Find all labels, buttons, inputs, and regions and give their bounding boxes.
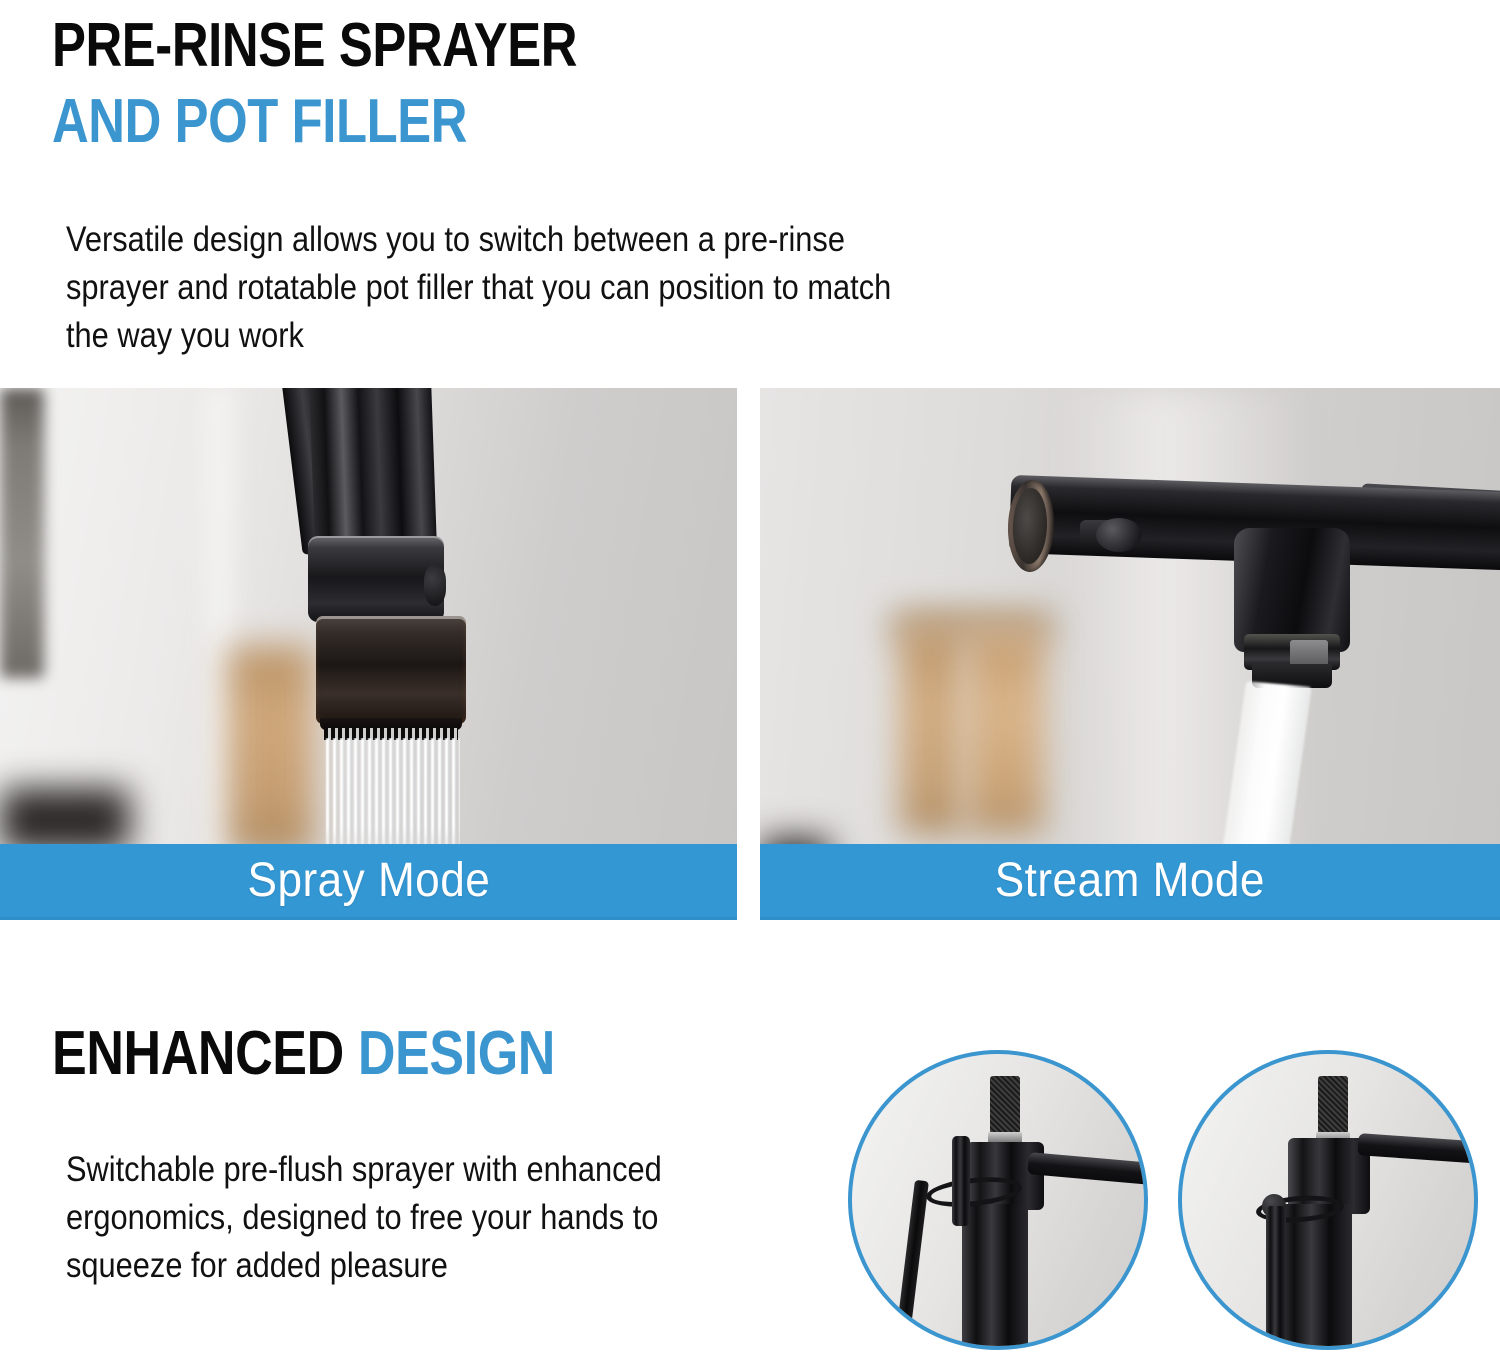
section2-heading: ENHANCED DESIGN: [52, 1018, 555, 1090]
headline-line-2: AND POT FILLER: [52, 84, 577, 160]
spray-mode-photo: [0, 388, 737, 920]
spray-mode-caption-label: Spray Mode: [247, 853, 490, 908]
squeeze-lever-handle: [893, 1180, 929, 1350]
lever-engaged-photo: [1178, 1050, 1478, 1350]
spray-mode-caption: Spray Mode: [0, 844, 737, 920]
infographic-page: PRE-RINSE SPRAYER AND POT FILLER Versati…: [0, 0, 1500, 1370]
detail-circles: [848, 1050, 1488, 1350]
stream-mode-caption: Stream Mode: [760, 844, 1500, 920]
faucet-side-arm: [1027, 1152, 1148, 1186]
intro-paragraph: Versatile design allows you to switch be…: [66, 216, 893, 360]
faucet-hose: [309, 388, 437, 552]
dark-object-blur: [0, 788, 130, 852]
headline-block: PRE-RINSE SPRAYER AND POT FILLER: [52, 8, 692, 160]
wooden-board-blur-2: [966, 628, 1044, 834]
mode-panels: Spray Mode: [0, 388, 1500, 920]
mode-toggle-button-icon: [424, 564, 446, 606]
spray-mode-panel: Spray Mode: [0, 388, 737, 920]
knurled-rod: [1318, 1076, 1348, 1134]
wooden-object-blur: [228, 646, 314, 856]
stream-mode-caption-label: Stream Mode: [995, 853, 1265, 908]
faucet-lower-tube: [962, 1204, 1028, 1350]
spout-aerator-chip: [1290, 640, 1328, 666]
stream-mode-photo: [760, 388, 1500, 920]
headline-line-1: PRE-RINSE SPRAYER: [52, 8, 577, 84]
section2-heading-blue: DESIGN: [358, 1019, 555, 1088]
lever-released-photo: [848, 1050, 1148, 1350]
wooden-board-blur-1: [900, 626, 964, 834]
section2-paragraph: Switchable pre-flush sprayer with enhanc…: [66, 1146, 682, 1290]
sprayer-head: [316, 616, 466, 724]
section2-heading-dark: ENHANCED: [52, 1019, 344, 1088]
section2-heading-block: ENHANCED DESIGN: [52, 1018, 651, 1090]
faucet-side-arm: [1357, 1133, 1478, 1165]
faucet-body-edge: [1266, 1206, 1286, 1350]
faucet-body-edge: [952, 1136, 970, 1226]
cabinet-handle-blur: [0, 388, 44, 678]
spout-mode-button-icon: [1096, 518, 1142, 552]
faucet-lower-tube: [1278, 1204, 1352, 1350]
knurled-rod: [990, 1076, 1020, 1134]
stream-mode-panel: Stream Mode: [760, 388, 1500, 920]
